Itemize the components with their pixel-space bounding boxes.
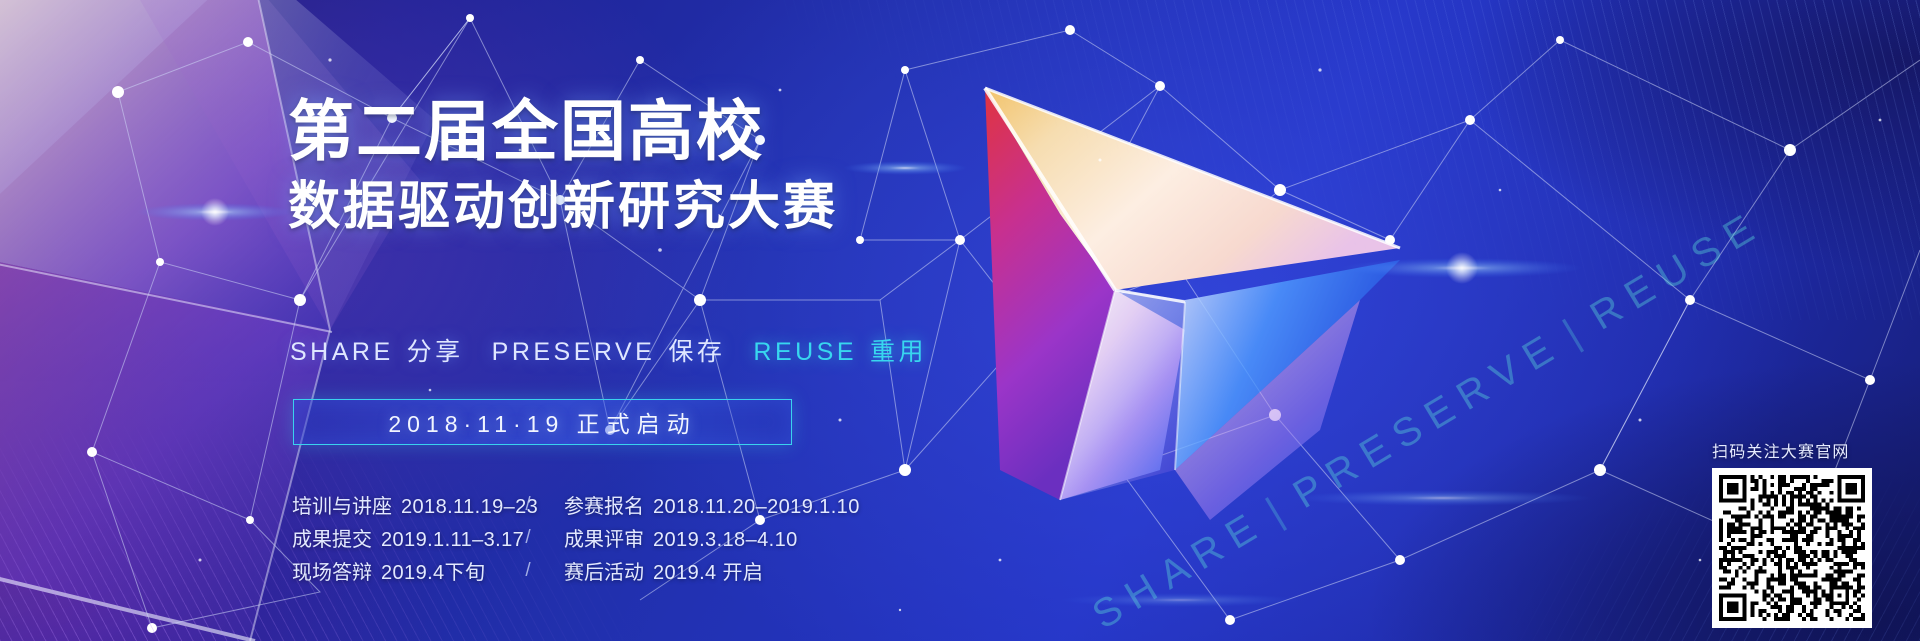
tagline: SHARE分享PRESERVE保存REUSE重用 [290, 332, 927, 368]
schedule-name: 赛后活动 [564, 562, 644, 584]
schedule-separator: / [492, 560, 564, 582]
tagline-reuse-en: REUSE [753, 338, 857, 367]
schedule-cell-right: 成果评审2019.3.18–4.10 [564, 523, 798, 552]
schedule-name: 成果提交 [292, 529, 372, 551]
schedule-cell-left: 培训与讲座2018.11.19–23 [292, 490, 492, 519]
qr-code-image [1719, 475, 1865, 621]
schedule-row: 现场答辩2019.4下旬 / 赛后活动2019.4 开启 [292, 554, 860, 587]
schedule-cell-left: 成果提交2019.1.11–3.17 [292, 523, 492, 552]
schedule-name: 现场答辩 [292, 562, 372, 584]
schedule-name: 参赛报名 [564, 496, 644, 518]
tagline-share-en: SHARE [290, 338, 394, 367]
schedule-cell-left: 现场答辩2019.4下旬 [292, 556, 492, 585]
schedule-separator: / [492, 494, 564, 516]
schedule-row: 成果提交2019.1.11–3.17 / 成果评审2019.3.18–4.10 [292, 521, 860, 554]
event-banner: SHARE|PRESERVE|REUSE 第二届全国高校 数据驱动创新研究大赛 … [0, 0, 1920, 641]
launch-date-label: 正式启动 [577, 411, 697, 437]
schedule-separator: / [492, 527, 564, 549]
schedule-date: 2018.11.20–2019.1.10 [653, 496, 860, 518]
tagline-preserve-cn: 保存 [668, 332, 725, 368]
launch-date-box: 2018·11·19 正式启动 [293, 399, 792, 445]
schedule-row: 培训与讲座2018.11.19–23 / 参赛报名2018.11.20–2019… [292, 488, 860, 521]
schedule-date: 2019.3.18–4.10 [653, 529, 798, 551]
launch-date-text: 2018·11·19 正式启动 [388, 405, 696, 439]
tagline-preserve-en: PRESERVE [492, 338, 656, 367]
banner-content: 第二届全国高校 数据驱动创新研究大赛 SHARE分享PRESERVE保存REUS… [0, 0, 1920, 641]
qr-caption: 扫码关注大赛官网 [1712, 438, 1872, 462]
schedule-cell-right: 赛后活动2019.4 开启 [564, 556, 763, 585]
schedule-list: 培训与讲座2018.11.19–23 / 参赛报名2018.11.20–2019… [292, 488, 860, 587]
schedule-cell-right: 参赛报名2018.11.20–2019.1.10 [564, 490, 860, 519]
title-line-2: 数据驱动创新研究大赛 [288, 181, 838, 233]
qr-code[interactable] [1712, 468, 1872, 628]
schedule-name: 培训与讲座 [292, 496, 392, 518]
tagline-reuse-cn: 重用 [870, 332, 927, 368]
tagline-share-cn: 分享 [407, 332, 464, 368]
schedule-date: 2019.4下旬 [381, 562, 485, 584]
schedule-date: 2019.4 开启 [653, 562, 763, 584]
qr-section: 扫码关注大赛官网 [1712, 438, 1872, 628]
schedule-name: 成果评审 [564, 529, 644, 551]
launch-date-value: 2018·11·19 [388, 411, 564, 437]
banner-title: 第二届全国高校 数据驱动创新研究大赛 [288, 98, 838, 233]
title-line-1: 第二届全国高校 [288, 98, 838, 164]
